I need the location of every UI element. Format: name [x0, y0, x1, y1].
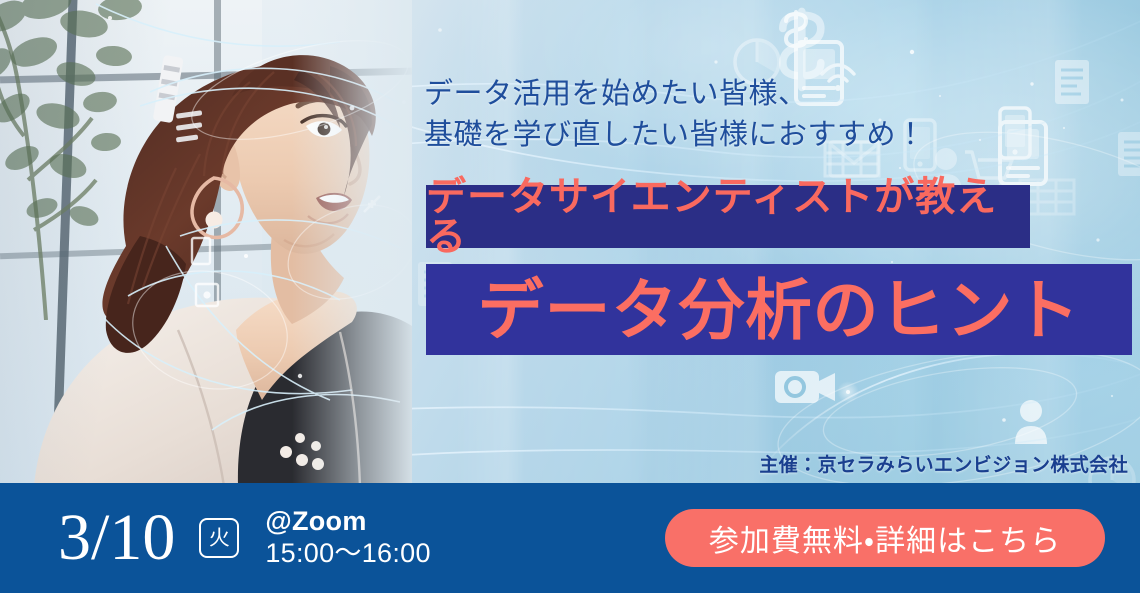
photo-edge-fade — [292, 0, 412, 486]
event-time: 15:00〜16:00 — [265, 538, 430, 570]
seminar-banner: データ活用を始めたい皆様、 基礎を学び直したい皆様におすすめ！ データサイエンテ… — [0, 0, 1140, 593]
register-cta-button[interactable]: 参加費無料・詳細はこちら — [665, 509, 1105, 567]
event-date-block: 3/10 火 — [58, 505, 239, 571]
headline-line-1: データサイエンティストが教える — [426, 177, 1030, 257]
subtitle: データ活用を始めたい皆様、 基礎を学び直したい皆様におすすめ！ — [424, 74, 1084, 156]
event-date: 3/10 — [58, 505, 175, 571]
headline-line-2: データ分析のヒント — [478, 277, 1081, 343]
subtitle-line-1: データ活用を始めたい皆様、 — [424, 74, 1084, 115]
organizer-credit: 主催：京セラみらいエンビジョン株式会社 — [759, 450, 1128, 477]
event-venue: @Zoom — [265, 506, 430, 538]
day-of-week-badge: 火 — [199, 518, 239, 558]
woman-in-profile-photo — [0, 0, 412, 486]
event-venue-block: @Zoom 15:00〜16:00 — [265, 506, 430, 570]
headline-bar-primary: データサイエンティストが教える — [426, 185, 1030, 248]
subtitle-line-2: 基礎を学び直したい皆様におすすめ！ — [424, 115, 1084, 156]
headline-bar-secondary: データ分析のヒント — [426, 264, 1132, 355]
